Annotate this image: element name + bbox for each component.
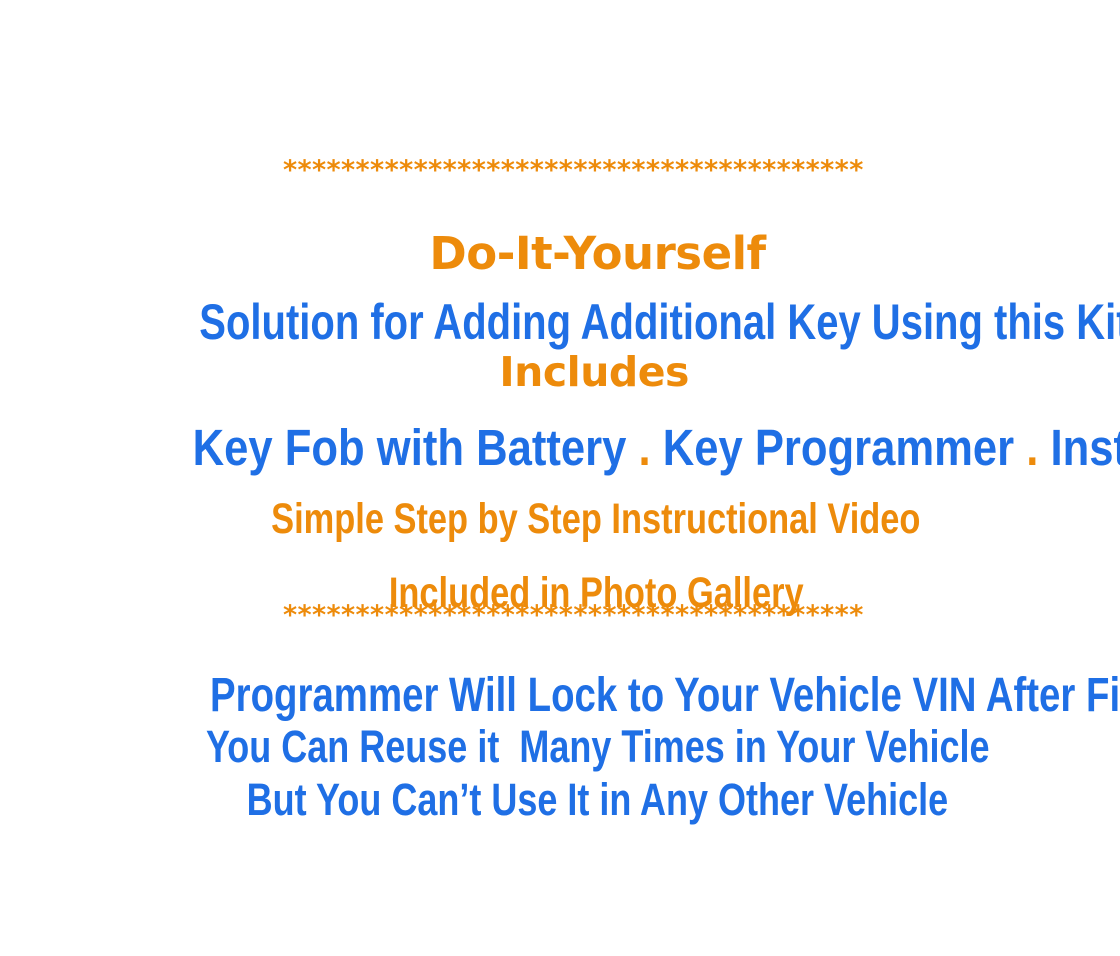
promo-graphic: ****************************************… [0,0,1120,956]
asterisk-divider-text: **************************************** [283,155,864,186]
notice-line-restriction-text: But You Can’t Use It in Any Other Vehicl… [247,777,948,822]
notice-line-restriction: But You Can’t Use It in Any Other Vehicl… [0,732,1120,867]
